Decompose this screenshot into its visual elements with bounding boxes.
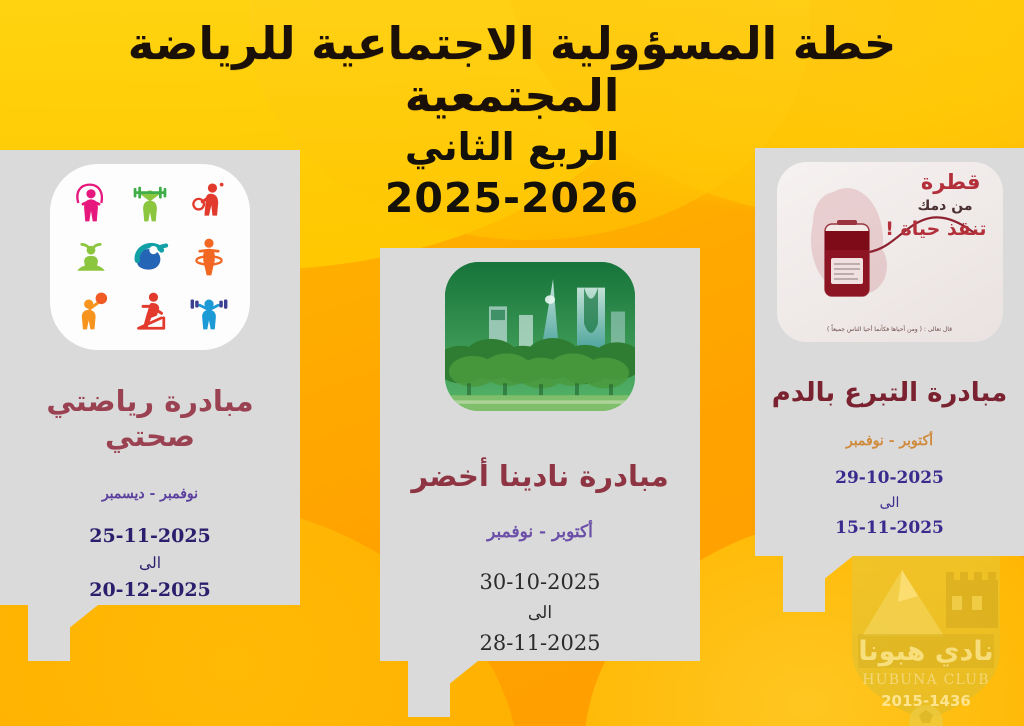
club-name-english: HUBUNA CLUB [862, 672, 989, 688]
hubuna-club-shield-icon: نادي هبونا HUBUNA CLUB 2015-1436 [840, 550, 1012, 726]
date-end: 20-12-2025 [89, 576, 211, 605]
treadmill-running-icon [121, 284, 180, 338]
poster-header: خطة المسؤولية الاجتماعية للرياضة المجتمع… [0, 18, 1024, 221]
blood-poster-verse: قال تعالى : ( ومن أحياها فكأنما أحيا الن… [777, 325, 1003, 334]
green-city-image [445, 262, 635, 411]
blood-poster-line-3: تنقذ حياة ! [885, 218, 986, 240]
page-title: خطة المسؤولية الاجتماعية للرياضة المجتمع… [40, 18, 984, 122]
initiative-dates: 30-10-2025 الى 28-11-2025 [479, 566, 600, 661]
initiative-months: نوفمبر - ديسمبر [102, 486, 198, 502]
initiative-card-green-club[interactable]: مبادرة نادينا أخضر أكتوبر - نوفمبر 30-10… [380, 248, 700, 661]
initiative-dates: 25-11-2025 الى 20-12-2025 [89, 522, 211, 605]
riyadh-skyline-trees [445, 262, 635, 411]
dumbbell-icon [179, 284, 238, 338]
date-start: 29-10-2025 [835, 465, 944, 492]
date-start: 30-10-2025 [479, 566, 600, 600]
initiative-dates: 29-10-2025 الى 15-11-2025 [835, 465, 944, 542]
speech-bubble-tail [380, 661, 700, 717]
date-connector: الى [479, 600, 600, 628]
swimming-icon [121, 230, 180, 284]
club-name-arabic: نادي هبونا [858, 636, 993, 667]
date-connector: الى [835, 492, 944, 514]
page-subtitle-quarter: الربع الثاني [40, 126, 984, 170]
date-start: 25-11-2025 [89, 522, 211, 551]
initiative-months: أكتوبر - نوفمبر [846, 433, 933, 449]
yoga-icon [62, 230, 121, 284]
club-logo: نادي هبونا HUBUNA CLUB 2015-1436 [840, 550, 1012, 726]
initiative-title: مبادرة رياضتي صحتي [0, 384, 300, 454]
green-city-illustration [445, 262, 635, 411]
speech-bubble-tail [0, 605, 300, 661]
date-end: 28-11-2025 [479, 627, 600, 661]
date-end: 15-11-2025 [835, 515, 944, 542]
initiative-title: مبادرة نادينا أخضر [401, 459, 678, 494]
basketball-icon [62, 284, 121, 338]
initiative-months: أكتوبر - نوفمبر [487, 522, 593, 542]
poster-canvas: خطة المسؤولية الاجتماعية للرياضة المجتمع… [0, 0, 1024, 726]
initiative-title: مبادرة التبرع بالدم [762, 378, 1017, 409]
hula-hoop-icon [179, 230, 238, 284]
page-subtitle-years: 2025-2026 [40, 176, 984, 221]
date-connector: الى [89, 551, 211, 575]
